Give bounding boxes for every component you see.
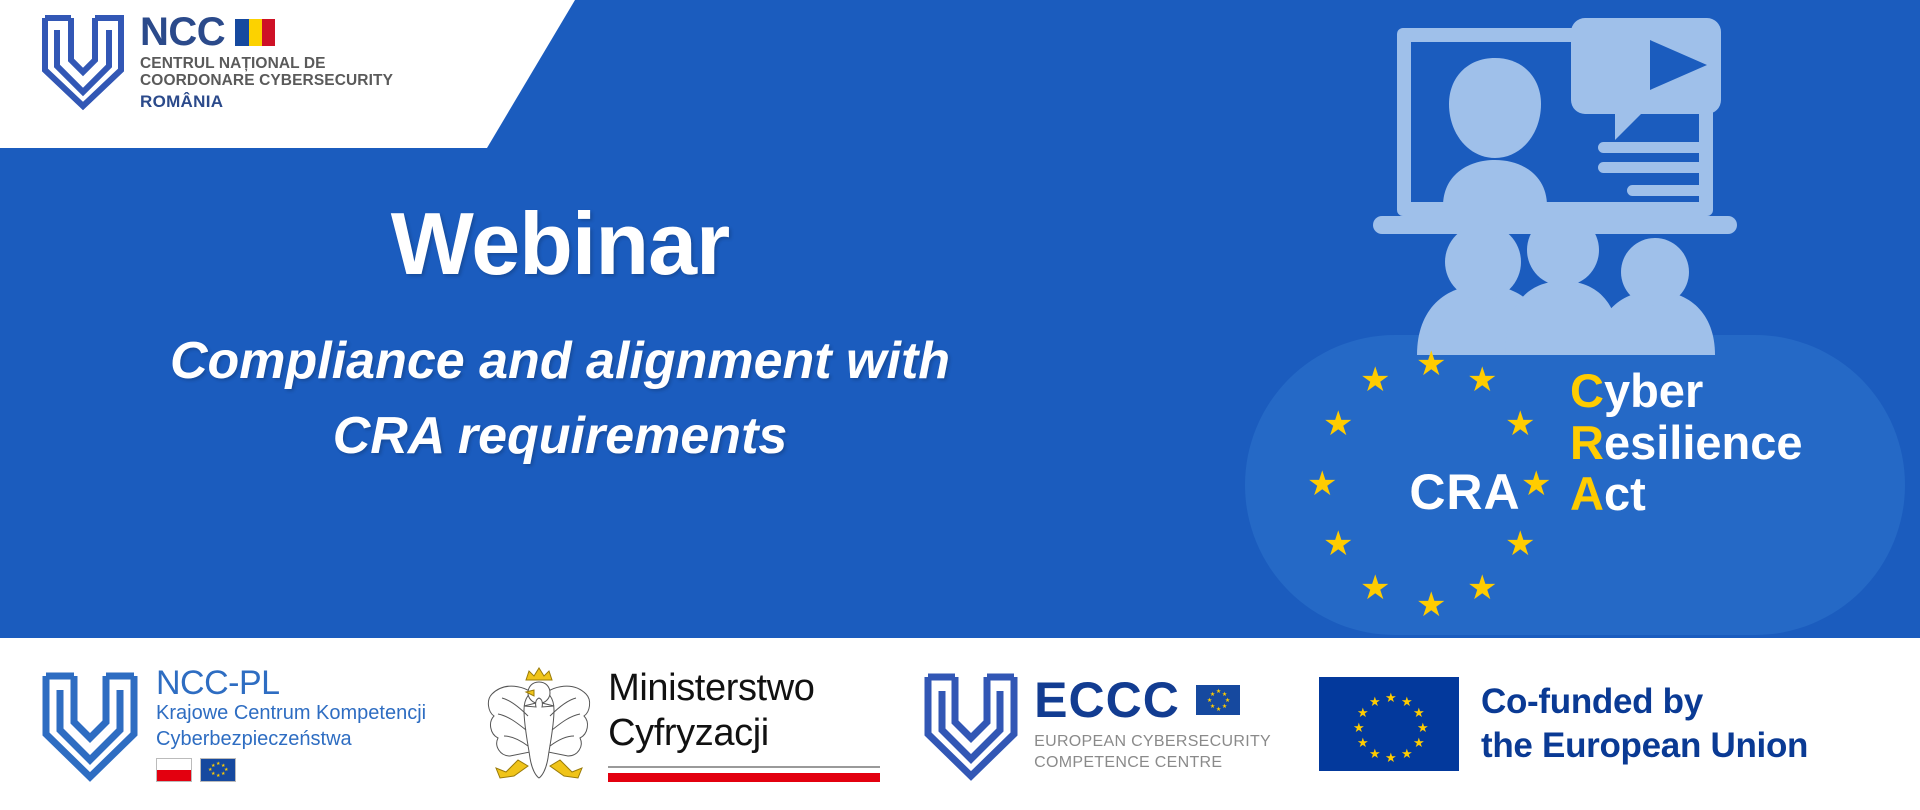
co-funded-line-2: the European Union [1481,724,1808,768]
ncc-country-label: ROMÂNIA [140,92,393,112]
page-subtitle: Compliance and alignment with CRA requir… [130,324,990,475]
cra-word-resilience: Resilience [1570,417,1803,469]
co-funded-line-1: Co-funded by [1481,680,1808,724]
eu-flag-icon: ★ ★ ★ ★ ★ ★ ★ ★ [200,758,236,782]
ncc-pl-logo: NCC-PL Krajowe Centrum Kompetencji Cyber… [40,664,426,784]
eccc-subtitle-line-1: EUROPEAN CYBERSECURITY [1034,732,1271,753]
ncc-romania-logo: NCC CENTRUL NAȚIONAL DE COORDONARE CYBER… [40,8,393,112]
cra-abbreviation: CRA [1385,463,1545,521]
ministry-of-digital-affairs-logo: Ministerstwo Cyfryzacji [484,660,880,788]
ministry-line-1: Ministerstwo [608,666,880,711]
ncc-pl-line-1: Krajowe Centrum Kompetencji [156,700,426,726]
eccc-shield-icon [922,665,1020,783]
ncc-wordmark: NCC [140,12,225,52]
subtitle-line-1: Compliance and alignment with [130,324,990,399]
eccc-logo: ECCC ★ ★ ★ ★ ★ ★ ★ ★ EUROPEAN CYBERSECUR… [922,665,1271,783]
polish-eagle-icon [484,660,594,788]
co-funded-eu-logo: ★ ★ ★ ★ ★ ★ ★ ★ ★ ★ ★ ★ Co-funded by the… [1319,677,1808,771]
eccc-subtitle-line-2: COMPETENCE CENTRE [1034,753,1271,774]
headline-block: Webinar Compliance and alignment with CR… [130,200,990,475]
eu-flag-icon: ★ ★ ★ ★ ★ ★ ★ ★ [1196,685,1240,715]
eccc-wordmark: ECCC [1034,675,1180,725]
romania-flag-icon [235,19,275,46]
footer-logos: NCC-PL Krajowe Centrum Kompetencji Cyber… [0,638,1920,810]
ncc-shield-icon [40,8,126,112]
ncc-subtitle-line-1: CENTRUL NAȚIONAL DE [140,55,393,72]
ncc-subtitle-line-2: COORDONARE CYBERSECURITY [140,72,393,89]
page-title: Webinar [130,200,990,288]
ncc-pl-line-2: Cyberbezpieczeństwa [156,726,426,752]
webinar-banner: NCC CENTRUL NAȚIONAL DE COORDONARE CYBER… [0,0,1920,810]
webinar-illustration-icon [1355,10,1755,355]
ministry-line-2: Cyfryzacji [608,711,880,756]
cra-logo: ★ ★ ★ ★ ★ ★ ★ ★ ★ ★ ★ ★ CRA Cyber Resili… [1285,345,1905,625]
eu-flag-icon: ★ ★ ★ ★ ★ ★ ★ ★ ★ ★ ★ ★ [1319,677,1459,771]
cra-full-name: Cyber Resilience Act [1570,365,1803,520]
cra-word-act: Act [1570,468,1803,520]
subtitle-line-2: CRA requirements [130,399,990,474]
poland-flag-icon [156,758,192,782]
ministry-rule-divider [608,766,880,782]
ncc-pl-title: NCC-PL [156,666,426,700]
cra-word-cyber: Cyber [1570,365,1803,417]
ncc-pl-shield-icon [40,664,140,784]
hero-section: NCC CENTRUL NAȚIONAL DE COORDONARE CYBER… [0,0,1920,638]
